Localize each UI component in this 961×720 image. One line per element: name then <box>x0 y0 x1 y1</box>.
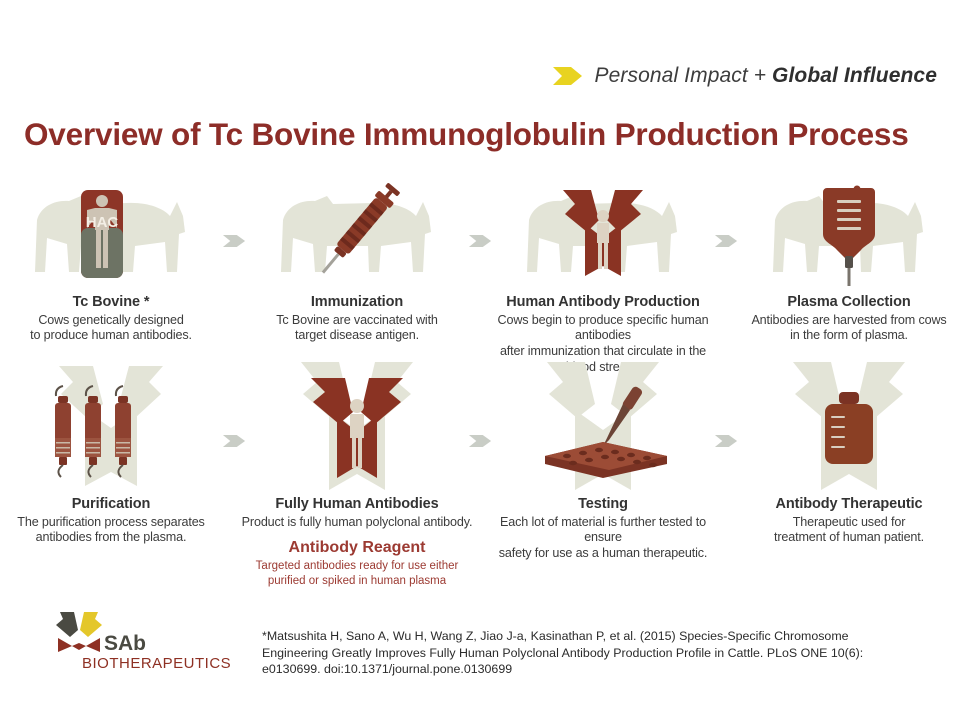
tagline-bold: Global Influence <box>772 64 937 87</box>
caption-purification: Purification The purification process se… <box>0 496 229 546</box>
process-row-1: HAC Tc Bovine * Cows genetically designe… <box>0 176 961 375</box>
step-body: Tc Bovine are vaccinated with target dis… <box>239 313 475 344</box>
header-tagline: Personal Impact + Global Influence <box>553 64 937 88</box>
caption-plasma-collection: Plasma Collection Antibodies are harvest… <box>731 294 961 344</box>
sab-chevrons-icon <box>56 612 102 652</box>
step-antibody-therapeutic: Antibody Therapeutic Therapeutic used fo… <box>738 360 960 589</box>
step-body: Therapeutic used for treatment of human … <box>731 515 961 546</box>
step-body: Cows genetically designed to produce hum… <box>0 313 229 344</box>
plasma-bag-over-cow-icon <box>745 176 953 288</box>
step-testing: Testing Each lot of material is further … <box>492 360 714 589</box>
step-title: Plasma Collection <box>731 294 961 312</box>
step-body: The purification process separates antib… <box>0 515 229 546</box>
step-title: Antibody Therapeutic <box>731 496 961 514</box>
caption-testing: Testing Each lot of material is further … <box>485 496 721 562</box>
step-title: Immunization <box>239 294 475 312</box>
citation-text: *Matsushita H, Sano A, Wu H, Wang Z, Jia… <box>262 628 888 678</box>
caption-tc-bovine: Tc Bovine * Cows genetically designed to… <box>0 294 229 344</box>
step-body: Antibodies are harvested from cows in th… <box>731 313 961 344</box>
step-body: Each lot of material is further tested t… <box>485 515 721 562</box>
chromatography-columns-icon <box>7 360 215 472</box>
step-plasma-collection: Plasma Collection Antibodies are harvest… <box>738 176 960 375</box>
step-immunization: Immunization Tc Bovine are vaccinated wi… <box>246 176 468 375</box>
cow-with-hac-card-icon: HAC <box>7 176 215 288</box>
step-title: Purification <box>0 496 229 514</box>
caption-antibody-therapeutic: Antibody Therapeutic Therapeutic used fo… <box>731 496 961 546</box>
right-chevron-arrow-icon <box>222 176 246 375</box>
syringe-over-cow-icon <box>253 176 461 288</box>
step-title: Testing <box>485 496 721 514</box>
antibody-with-human-icon <box>253 360 461 472</box>
microplate-pipette-icon <box>499 360 707 472</box>
step-body: Product is fully human polyclonal antibo… <box>239 515 475 531</box>
tagline-plain: Personal Impact + <box>595 64 772 87</box>
caption-immunization: Immunization Tc Bovine are vaccinated wi… <box>239 294 475 344</box>
step-tc-bovine: HAC Tc Bovine * Cows genetically designe… <box>0 176 222 375</box>
reagent-title: Antibody Reagent <box>233 539 481 557</box>
logo-name: SAb <box>104 632 146 655</box>
yellow-chevron-icon <box>553 66 583 86</box>
slide-root: Personal Impact + Global Influence Overv… <box>0 0 961 720</box>
caption-fully-human-antibodies: Fully Human Antibodies Product is fully … <box>239 496 475 530</box>
antibody-over-cow-icon <box>499 176 707 288</box>
tagline-text: Personal Impact + Global Influence <box>595 64 937 88</box>
step-fully-human-antibodies: Fully Human Antibodies Product is fully … <box>246 360 468 589</box>
reagent-body: Targeted antibodies ready for use either… <box>233 559 481 589</box>
vial-icon <box>745 360 953 472</box>
step-purification: Purification The purification process se… <box>0 360 222 589</box>
step-title: Fully Human Antibodies <box>239 496 475 514</box>
step-human-antibody-production: Human Antibody Production Cows begin to … <box>492 176 714 375</box>
step-title: Human Antibody Production <box>485 294 721 312</box>
antibody-reagent-callout: Antibody Reagent Targeted antibodies rea… <box>233 539 481 589</box>
step-title: Tc Bovine * <box>0 294 229 312</box>
logo-subtitle: BIOTHERAPEUTICS <box>82 655 231 672</box>
company-logo: SAb BIOTHERAPEUTICS <box>52 608 232 674</box>
svg-text:HAC: HAC <box>86 214 119 231</box>
page-title: Overview of Tc Bovine Immunoglobulin Pro… <box>24 116 909 153</box>
process-row-2: Purification The purification process se… <box>0 360 961 589</box>
